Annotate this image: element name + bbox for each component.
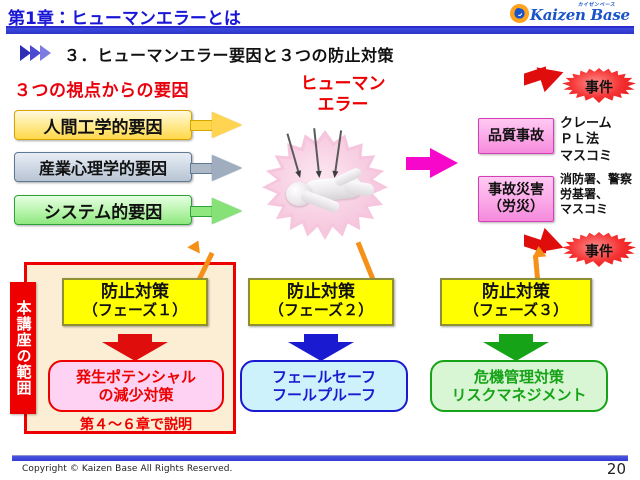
phase-title: 防止対策 (101, 284, 169, 302)
phase2-result-box: フェールセーフ フールプルーフ (240, 360, 408, 412)
accident-box-disaster: 事故災害 （労災） (478, 176, 554, 222)
phase3-result-box: 危機管理対策 リスクマネジメント (430, 360, 608, 412)
accident-box-quality: 品質事故 (478, 118, 554, 154)
footer-bar (12, 456, 628, 461)
phase-subtitle: （フェーズ１） (83, 302, 187, 319)
phase-title: 防止対策 (482, 284, 550, 302)
incident-label: 事件 (585, 241, 613, 261)
arrow-ergonomics-to-error (190, 112, 242, 138)
phase-box-1: 防止対策 （フェーズ１） (62, 278, 208, 326)
logo-wordmark: Kaizen Base (530, 6, 630, 24)
three-viewpoints-heading: ３つの視点からの要因 (14, 76, 189, 101)
phase1-result-box: 発生ポテンシャル の減少対策 (48, 360, 224, 412)
arrow-system-to-error (190, 198, 242, 224)
slide-canvas: 第1章：ヒューマンエラーとは カイゼンベース Kaizen Base ３．ヒュー… (0, 0, 640, 480)
header-bar (6, 28, 634, 34)
incident-burst-bottom: 事件 (562, 232, 636, 270)
arrow-strike-icon (313, 128, 320, 174)
human-error-heading: ヒューマン エラー (278, 74, 408, 115)
phase-box-2: 防止対策 （フェーズ２） (248, 278, 394, 326)
fallen-person-illustration (272, 150, 378, 230)
phase-title: 防止対策 (287, 284, 355, 302)
arrow-error-to-accident (406, 148, 458, 178)
incident-burst-top: 事件 (562, 68, 636, 106)
page-number: 20 (607, 460, 626, 478)
arrow-to-incident-top (524, 62, 564, 90)
arrow-strike-icon (334, 130, 342, 174)
gear-icon (510, 4, 529, 23)
factor-box-system: システム的要因 (14, 195, 192, 225)
arrow-strike-icon (286, 133, 299, 174)
scope-note: 第４～６章で説明 (48, 414, 224, 434)
kaizen-base-logo: カイゼンベース Kaizen Base (508, 1, 634, 27)
phase-box-3: 防止対策 （フェーズ３） (440, 278, 592, 326)
arrow-phase2-down (288, 334, 354, 362)
accident-consequences-disaster: 消防署、警察 労基署、 マスコミ (560, 172, 632, 217)
arrow-phase1-down (102, 334, 168, 362)
incident-label: 事件 (585, 77, 613, 97)
section-title: ３．ヒューマンエラー要因と３つの防止対策 (64, 42, 394, 66)
phase-subtitle: （フェーズ３） (464, 302, 568, 319)
factor-box-ergonomics: 人間工学的要因 (14, 110, 192, 140)
copyright-text: Copyright © Kaizen Base All Rights Reser… (22, 464, 232, 474)
chevron-right-icon (20, 45, 62, 61)
accident-consequences-quality: クレーム ＰＬ法 マスコミ (560, 116, 612, 165)
factor-box-psychology: 産業心理学的要因 (14, 152, 192, 182)
arrow-phase3-down (483, 334, 549, 362)
arrow-psychology-to-error (190, 155, 242, 181)
phase-subtitle: （フェーズ２） (269, 302, 373, 319)
course-scope-label: 本講座の範囲 (10, 282, 36, 414)
